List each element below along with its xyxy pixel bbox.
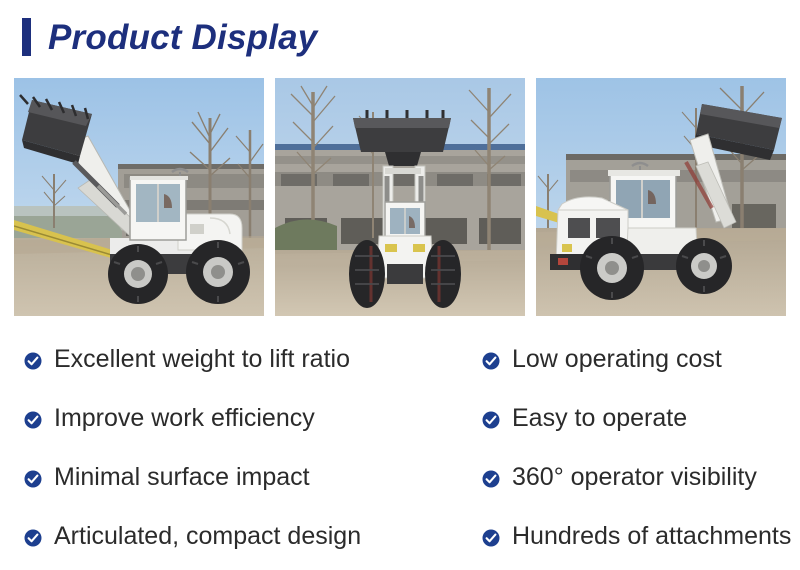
feature-label: Easy to operate xyxy=(512,406,687,431)
feature-item: Easy to operate xyxy=(482,389,800,448)
feature-label: Excellent weight to lift ratio xyxy=(54,347,350,372)
check-circle-icon xyxy=(24,529,42,547)
feature-label: 360° operator visibility xyxy=(512,465,757,490)
page-header: Product Display xyxy=(0,0,800,74)
product-photo-3[interactable] xyxy=(536,78,786,316)
feature-item: 360° operator visibility xyxy=(482,448,800,507)
check-circle-icon xyxy=(482,352,500,370)
feature-item: Hundreds of attachments xyxy=(482,507,800,566)
feature-label: Minimal surface impact xyxy=(54,465,310,490)
feature-label: Hundreds of attachments xyxy=(512,524,791,549)
product-photo-1[interactable] xyxy=(14,78,264,316)
product-photo-gallery xyxy=(14,78,787,316)
feature-item: Excellent weight to lift ratio xyxy=(24,330,464,389)
feature-item: Articulated, compact design xyxy=(24,507,464,566)
check-circle-icon xyxy=(24,411,42,429)
check-circle-icon xyxy=(24,470,42,488)
feature-label: Articulated, compact design xyxy=(54,524,361,549)
feature-item: Minimal surface impact xyxy=(24,448,464,507)
feature-item: Low operating cost xyxy=(482,330,800,389)
check-circle-icon xyxy=(482,411,500,429)
feature-label: Low operating cost xyxy=(512,347,722,372)
feature-column-right: Low operating cost Easy to operate 360° … xyxy=(464,330,800,570)
feature-column-left: Excellent weight to lift ratio Improve w… xyxy=(0,330,464,570)
feature-item: Improve work efficiency xyxy=(24,389,464,448)
check-circle-icon xyxy=(24,352,42,370)
product-photo-2[interactable] xyxy=(275,78,525,316)
page-title: Product Display xyxy=(48,20,317,55)
check-circle-icon xyxy=(482,470,500,488)
feature-list: Excellent weight to lift ratio Improve w… xyxy=(0,330,800,570)
check-circle-icon xyxy=(482,529,500,547)
feature-label: Improve work efficiency xyxy=(54,406,315,431)
title-accent-bar xyxy=(22,18,31,56)
